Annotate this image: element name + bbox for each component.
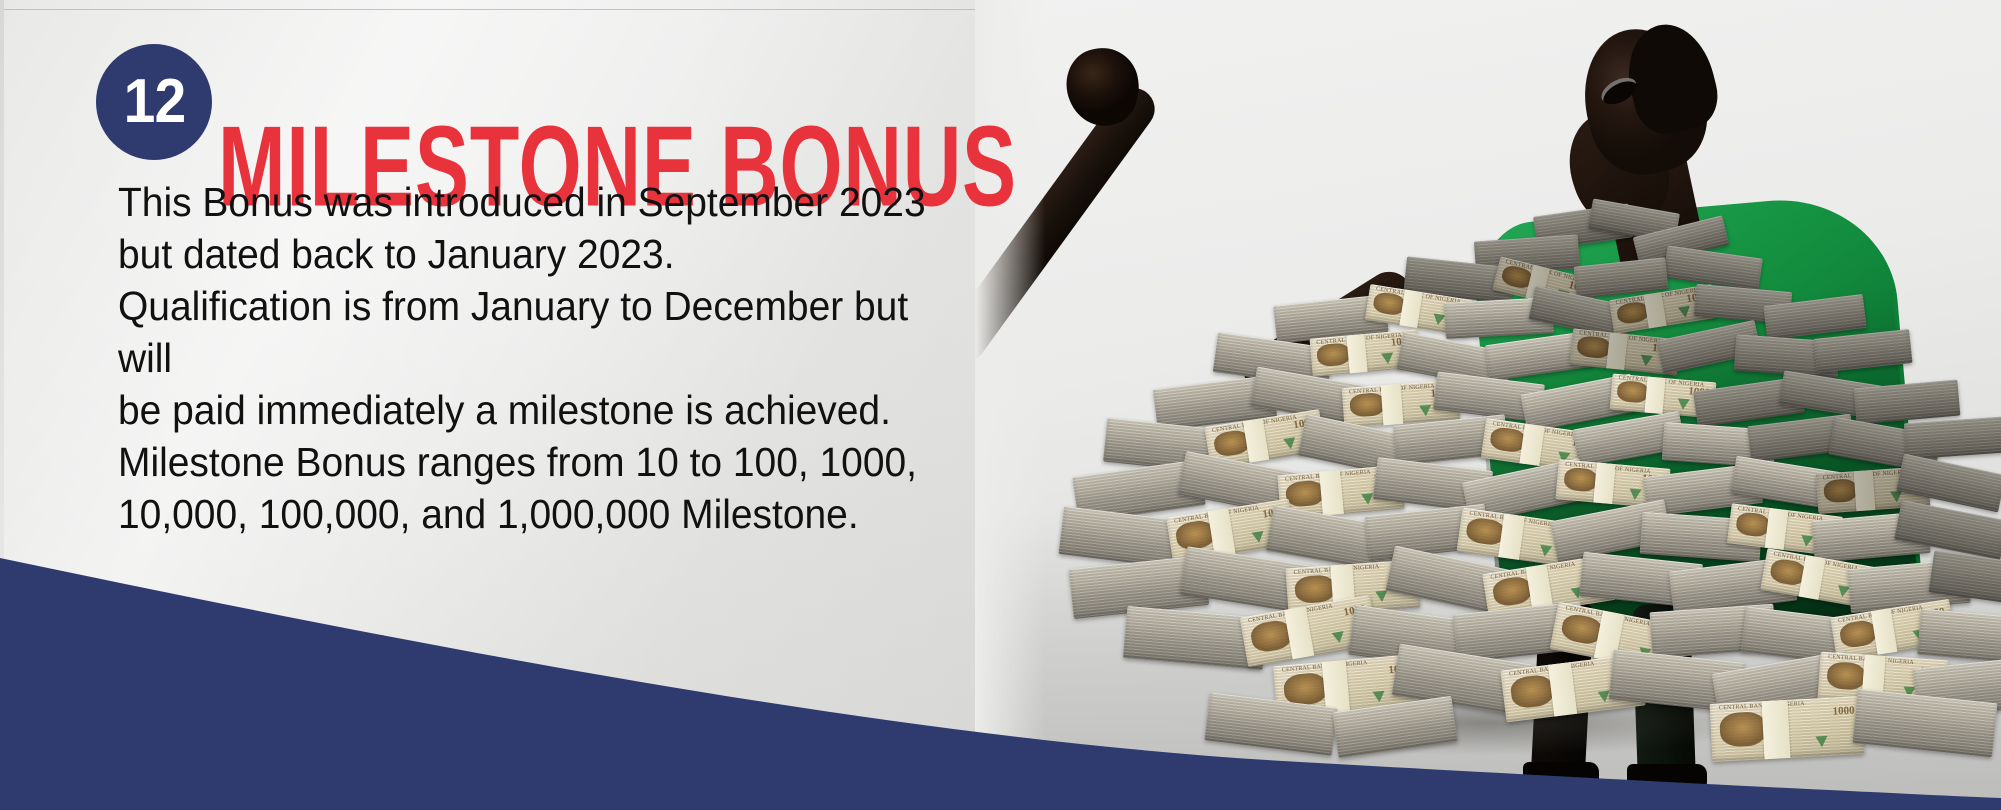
body-line: 10,000, 100,000, and 1,000,000 Milestone… <box>118 488 954 540</box>
money-bundle <box>1813 329 1912 373</box>
banknote-hologram-patch <box>1353 338 1363 350</box>
money-bundle <box>1663 245 1763 290</box>
body-line: but dated back to January 2023. <box>118 228 954 280</box>
banknote-portrait <box>1617 381 1650 405</box>
slide-number-label: 12 <box>123 71 185 133</box>
banknote-hologram-patch <box>1388 388 1398 400</box>
banknote-green-triangle <box>1432 314 1446 327</box>
body-line: This Bonus was introduced in September 2… <box>118 176 954 228</box>
body-line: Milestone Bonus ranges from 10 to 100, 1… <box>118 436 954 488</box>
banknote-hologram-patch <box>1536 269 1547 282</box>
body-line: Qualification is from January to Decembe… <box>118 280 954 384</box>
body-paragraph: This Bonus was introduced in September 2… <box>118 176 954 540</box>
banknote-hologram-patch <box>1653 381 1663 393</box>
slide-milestone-bonus: 1000CENTRAL BANK OF NIGERIA1000CENTRAL B… <box>0 0 2001 810</box>
banknote-green-triangle <box>1677 399 1690 411</box>
banknote-hologram-patch <box>1651 296 1662 308</box>
body-line: be paid immediately a milestone is achie… <box>118 384 954 436</box>
banknote-hologram-patch <box>1615 337 1625 349</box>
banknote-hologram-patch <box>1409 294 1420 306</box>
slide-content: 12 MILESTONE BONUS This Bonus was introd… <box>0 0 1000 810</box>
slide-number-badge: 12 <box>96 44 212 160</box>
banknote-green-triangle <box>1640 355 1653 367</box>
banknote-green-triangle <box>1381 352 1394 364</box>
banknote-green-triangle <box>1678 305 1692 318</box>
banknote-portrait <box>1317 342 1351 367</box>
